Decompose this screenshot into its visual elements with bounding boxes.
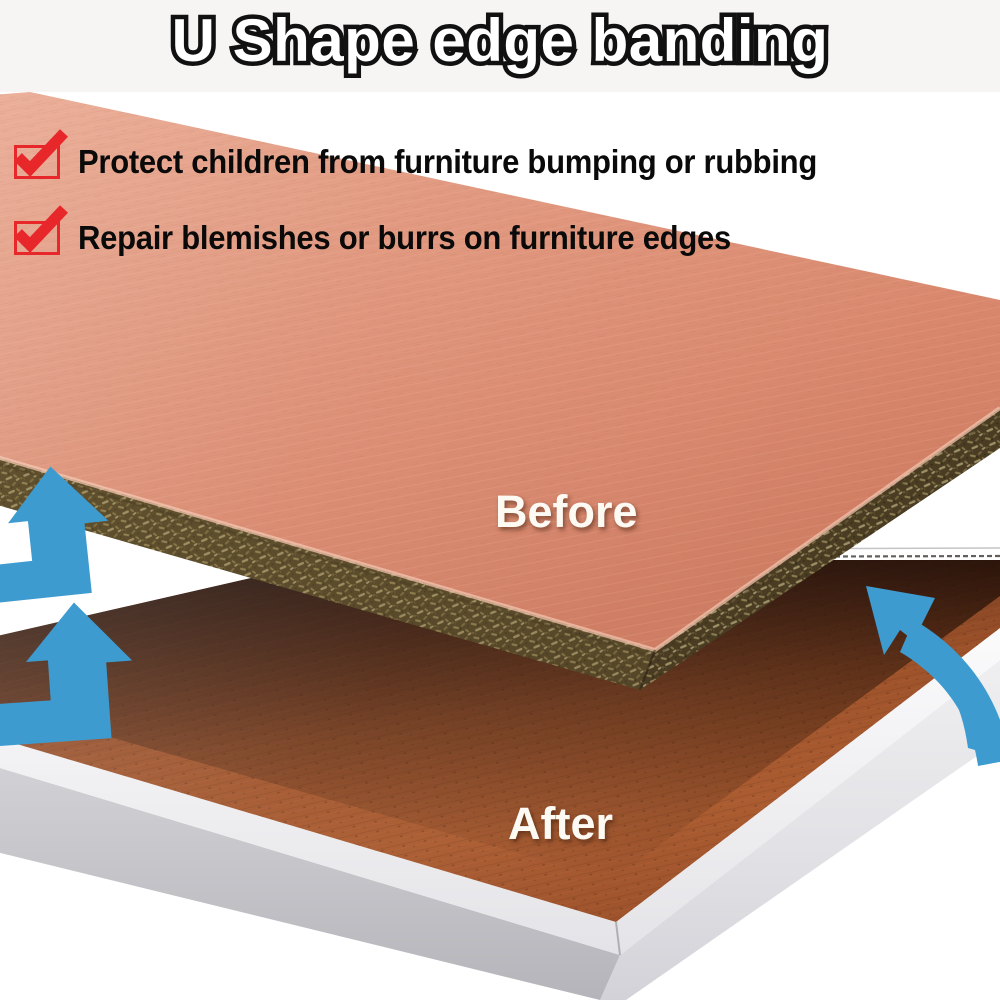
feature-item-1-label: Protect children from furniture bumping … — [78, 143, 817, 181]
feature-item-2: Repair blemishes or burrs on furniture e… — [14, 208, 994, 268]
before-label: Before — [495, 486, 638, 538]
after-label: After — [508, 798, 613, 850]
feature-item-2-label: Repair blemishes or burrs on furniture e… — [78, 219, 731, 257]
checkbox-checked-icon — [14, 221, 60, 255]
checkbox-checked-icon — [14, 145, 60, 179]
product-infographic: U Shape edge banding Protect children fr… — [0, 0, 1000, 1000]
page-title: U Shape edge banding — [0, 6, 1000, 75]
feature-item-1: Protect children from furniture bumping … — [14, 132, 994, 192]
feature-list: Protect children from furniture bumping … — [14, 132, 994, 284]
